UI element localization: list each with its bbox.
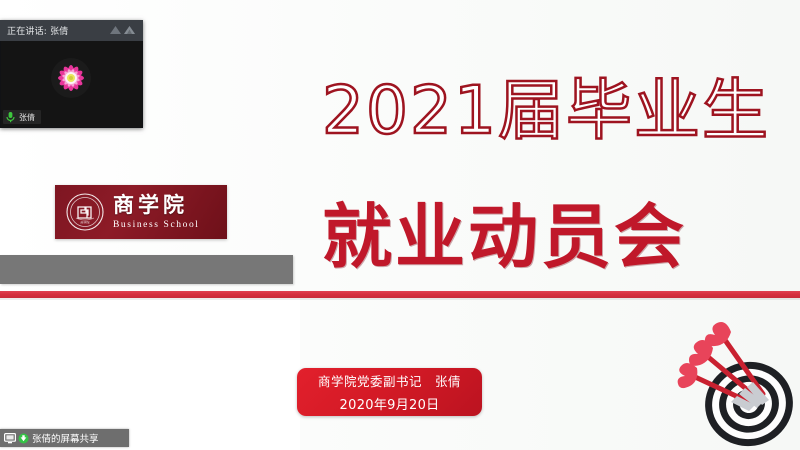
business-school-seal-icon: 商学院: [65, 192, 105, 232]
red-divider-rule: [0, 291, 800, 298]
business-school-logo-text: 商学院 Business School: [113, 194, 200, 229]
video-panel-header: 正在讲话: 张倩: [0, 20, 143, 41]
slide-title-line-1: 2021届毕业生: [322, 78, 770, 144]
video-tile[interactable]: 张倩: [1, 41, 142, 127]
svg-text:商学院: 商学院: [80, 220, 89, 225]
flower-avatar-icon: [51, 58, 91, 98]
gray-accent-bar: [0, 255, 293, 284]
red-divider-rule-shadow: [0, 298, 800, 300]
presenter-role: 商学院党委副书记 张倩: [318, 371, 461, 390]
slide-title-line-2: 就业动员会: [322, 202, 687, 272]
screen-share-status-bar[interactable]: 张倩的屏幕共享: [0, 429, 129, 447]
presenter-info-badge: 商学院党委副书记 张倩 2020年9月20日: [297, 368, 482, 416]
chevron-up-icon[interactable]: [109, 24, 122, 35]
participant-name: 张倩: [19, 112, 35, 123]
business-school-logo: 商学院 商学院 Business School: [55, 185, 227, 239]
logo-name-en: Business School: [113, 220, 200, 230]
active-speaker-label: 正在讲话: 张倩: [7, 24, 69, 37]
slide-background-lower-left: [0, 296, 300, 450]
screen-share-label: 张倩的屏幕共享: [32, 431, 99, 445]
participant-name-badge: 张倩: [3, 110, 41, 124]
microphone-icon: [5, 111, 16, 123]
green-down-arrow-icon[interactable]: [18, 433, 29, 444]
dartboard-with-darts-icon: [663, 312, 799, 450]
logo-name-cn: 商学院: [113, 194, 200, 216]
screen-share-canvas: 商学院 商学院 Business School 2021届毕业生 就业动员会 商…: [0, 0, 800, 450]
monitor-icon: [4, 433, 16, 444]
presenter-date: 2020年9月20日: [340, 394, 440, 413]
double-chevron-up-icon[interactable]: [123, 24, 136, 35]
zoom-video-panel[interactable]: 正在讲话: 张倩: [0, 20, 143, 128]
